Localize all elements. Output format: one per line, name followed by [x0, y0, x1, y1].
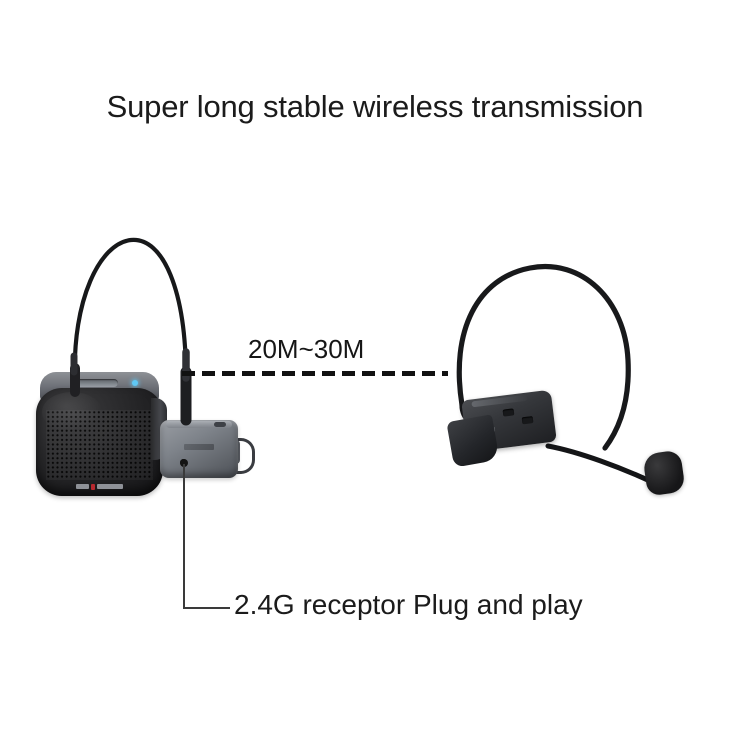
- range-line-dash: [262, 371, 275, 376]
- headset-module-top: [471, 395, 527, 408]
- callout-leader-vertical: [183, 464, 185, 609]
- range-line-dash: [442, 371, 448, 376]
- speaker-body: [36, 388, 163, 496]
- led-indicator-icon: [132, 380, 138, 386]
- speaker-highlight: [42, 392, 102, 432]
- range-line-dash: [362, 371, 375, 376]
- speaker-logo: [72, 483, 126, 490]
- range-line-dash: [382, 371, 395, 376]
- headset-device: [440, 255, 740, 525]
- speaker-device: [36, 372, 163, 496]
- range-line-dash: [302, 371, 315, 376]
- transmission-range-line: [182, 371, 448, 376]
- range-line-dash: [222, 371, 235, 376]
- callout-leader-horizontal: [183, 607, 230, 609]
- receptor-device: [160, 420, 240, 478]
- headset-microphone-tip: [642, 450, 685, 497]
- receptor-brand-mark: [184, 444, 214, 450]
- range-line-dash: [402, 371, 415, 376]
- range-line-dash: [282, 371, 295, 376]
- receptor-notch: [214, 422, 226, 427]
- headset-earpiece: [446, 414, 499, 467]
- page-title: Super long stable wireless transmission: [0, 88, 750, 125]
- callout-label: 2.4G receptor Plug and play: [234, 589, 583, 621]
- range-line-dash: [202, 371, 215, 376]
- transmission-range-label: 20M~30M: [248, 334, 364, 365]
- range-line-dash: [422, 371, 435, 376]
- product-infographic: Super long stable wireless transmission: [0, 0, 750, 750]
- headset-button-two: [522, 416, 534, 424]
- receptor-body: [160, 420, 238, 478]
- range-line-dash: [182, 371, 195, 376]
- range-line-dash: [242, 371, 255, 376]
- headset-button-one: [503, 408, 515, 416]
- range-line-dash: [342, 371, 355, 376]
- speaker-control-slot: [74, 379, 118, 387]
- range-line-dash: [322, 371, 335, 376]
